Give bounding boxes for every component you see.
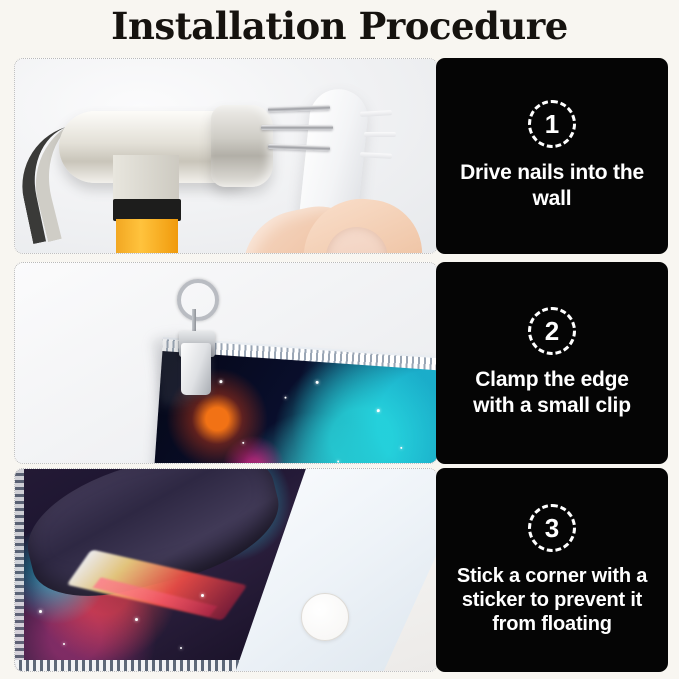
- nail-icon: [261, 125, 333, 130]
- star: [400, 447, 402, 449]
- star: [376, 409, 379, 412]
- step-3-photo: [14, 468, 438, 672]
- step-1-panel: 1 Drive nails into the wall: [436, 58, 668, 254]
- page-title: Installation Procedure: [0, 4, 679, 48]
- adhesive-sticker: [301, 593, 349, 641]
- step-2-number-badge: 2: [528, 307, 576, 355]
- star: [63, 643, 65, 645]
- tapestry-stitched-hem-left: [15, 469, 24, 671]
- step-2-content: 2 Clamp the edge with a small clip: [436, 307, 668, 418]
- step-row-3: 3 Stick a corner with a sticker to preve…: [14, 468, 668, 672]
- hammer-striking-face: [211, 105, 273, 187]
- step-row-1: 1 Drive nails into the wall: [14, 58, 668, 254]
- hammer-yellow-grip: [116, 219, 178, 254]
- step-3-content: 3 Stick a corner with a sticker to preve…: [436, 504, 668, 636]
- star: [220, 380, 223, 383]
- step-1-text: Drive nails into the wall: [446, 160, 658, 211]
- star: [337, 460, 339, 462]
- step-2-text: Clamp the edge with a small clip: [446, 367, 658, 418]
- nail-icon: [364, 132, 396, 137]
- star: [135, 618, 138, 621]
- hammer-collar: [113, 199, 181, 221]
- step-2-number: 2: [545, 318, 559, 344]
- clip-ring-icon: [177, 279, 219, 321]
- step-1-content: 1 Drive nails into the wall: [436, 100, 668, 211]
- star: [180, 647, 182, 649]
- step-1-photo: [14, 58, 438, 254]
- step-2-panel: 2 Clamp the edge with a small clip: [436, 262, 668, 464]
- step-row-2: 2 Clamp the edge with a small clip: [14, 262, 668, 464]
- step-3-panel: 3 Stick a corner with a sticker to preve…: [436, 468, 668, 672]
- step-3-text: Stick a corner with a sticker to prevent…: [446, 564, 658, 636]
- star: [285, 397, 287, 399]
- metal-clip: [181, 343, 211, 395]
- step-1-number: 1: [545, 111, 559, 137]
- star: [39, 610, 42, 613]
- star: [316, 381, 319, 384]
- installation-procedure-infographic: Installation Procedure: [0, 0, 679, 679]
- step-3-number-badge: 3: [528, 504, 576, 552]
- step-3-number: 3: [545, 515, 559, 541]
- step-2-photo: [14, 262, 438, 464]
- step-1-number-badge: 1: [528, 100, 576, 148]
- star: [242, 442, 244, 444]
